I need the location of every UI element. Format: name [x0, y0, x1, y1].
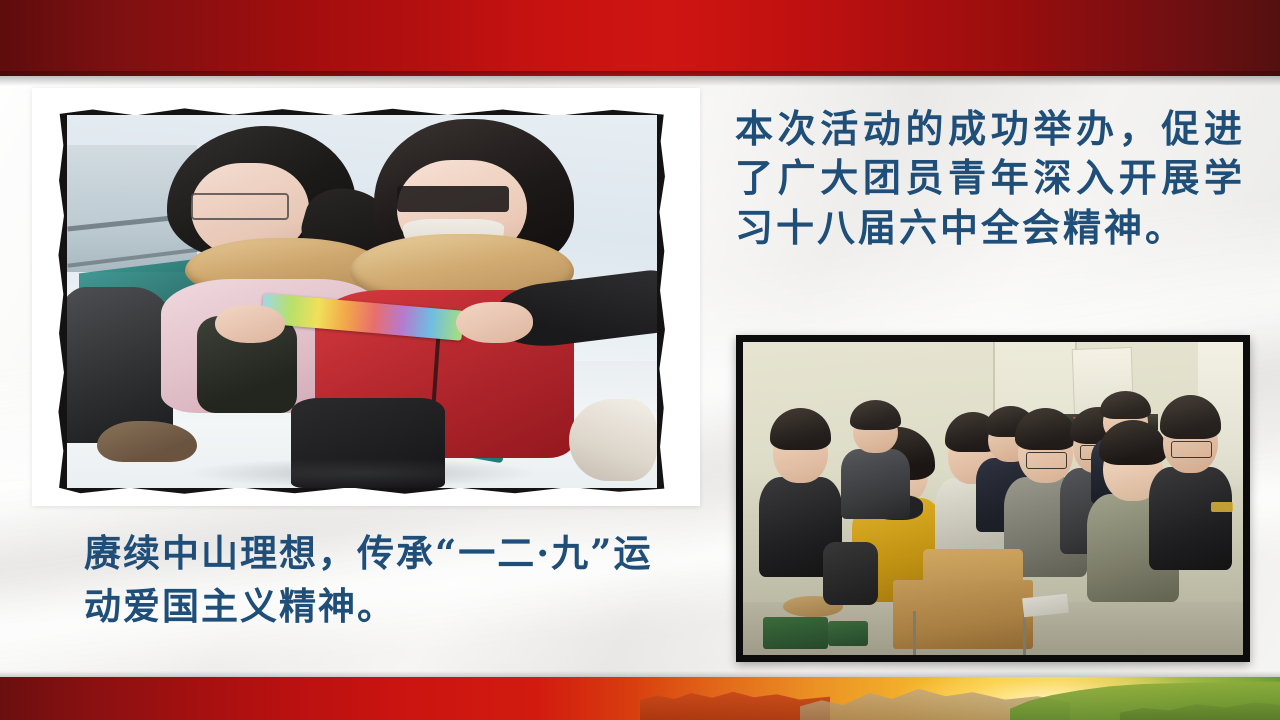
- left-photo-left-hand: [215, 305, 286, 342]
- right-photo-tone-overlay: [743, 342, 1243, 655]
- left-photo-right-hand: [456, 302, 533, 343]
- slide-canvas: 本次活动的成功举办，促进了广大团员青年深入开展学习十八届六中全会精神。: [0, 0, 1280, 720]
- left-photo-person-b-glasses: [397, 186, 509, 212]
- left-photo-white-fur: [569, 399, 658, 481]
- left-photo-image: [67, 115, 657, 488]
- body-paragraph: 本次活动的成功举办，促进了广大团员青年深入开展学习十八届六中全会精神。: [735, 104, 1245, 252]
- photo-students-exchanging-leaflet: [56, 106, 668, 498]
- right-photo-image: [743, 342, 1243, 655]
- left-photo-background-person: [67, 287, 173, 444]
- left-photo-background-person-shoe: [97, 421, 197, 462]
- top-red-banner: [0, 0, 1280, 76]
- top-banner-shadow: [0, 76, 1280, 86]
- photo-classroom-audience: [736, 335, 1250, 662]
- left-photo-person-a-glasses: [191, 193, 289, 219]
- slide-caption: 赓续中山理想，传承“一二·九”运动爱国主义精神。: [84, 527, 684, 632]
- bottom-red-sunset-banner: [0, 677, 1280, 720]
- left-photo-floor-shadow: [185, 458, 539, 488]
